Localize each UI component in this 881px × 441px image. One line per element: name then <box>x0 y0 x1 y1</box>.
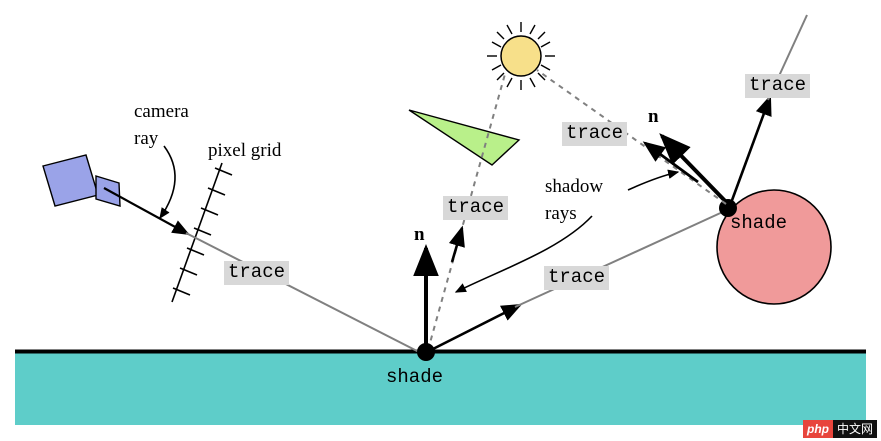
diagram-canvas: camera ray pixel grid trace trace trace … <box>0 0 881 441</box>
camera-ray-label-line1: camera <box>134 101 189 123</box>
camera-ray-leader <box>160 146 175 218</box>
ground-normal-label: n <box>414 224 425 246</box>
watermark-php-text: php <box>803 420 833 438</box>
ground-shade-label: shade <box>386 366 443 388</box>
pixel-grid <box>172 163 232 302</box>
trace-label-ground-shadow: trace <box>443 196 508 220</box>
sphere-normal-arrow <box>662 136 730 206</box>
watermark-cn-text: 中文网 <box>833 420 877 438</box>
shadow-rays-label-line1: shadow <box>545 176 603 198</box>
ground-plane <box>15 353 866 425</box>
ground-shadow-ray-arrow <box>452 228 462 262</box>
ground-shade-point <box>417 343 435 361</box>
watermark: php 中文网 <box>803 420 877 438</box>
shadow-rays-label-line2: rays <box>545 203 577 225</box>
camera-ray-to-ground <box>186 233 419 352</box>
pixel-grid-label: pixel grid <box>208 140 281 162</box>
sun-light <box>501 36 541 76</box>
sphere-shade-label: shade <box>730 212 787 234</box>
triangle-object <box>409 110 519 165</box>
trace-label-sphere-shadow: trace <box>562 122 627 146</box>
trace-label-sphere-reflect: trace <box>745 74 810 98</box>
camera-object <box>43 155 120 206</box>
sphere-reflect-arrow <box>731 97 770 203</box>
trace-label-camera: trace <box>224 261 289 285</box>
camera-ray-label-line2: ray <box>134 128 158 150</box>
sphere-normal-label: n <box>648 106 659 128</box>
shadow-rays-leader-right <box>628 172 678 190</box>
trace-label-ground-reflect: trace <box>544 266 609 290</box>
ground-reflect-arrow <box>431 305 520 350</box>
camera-ray-arrow <box>104 188 188 234</box>
